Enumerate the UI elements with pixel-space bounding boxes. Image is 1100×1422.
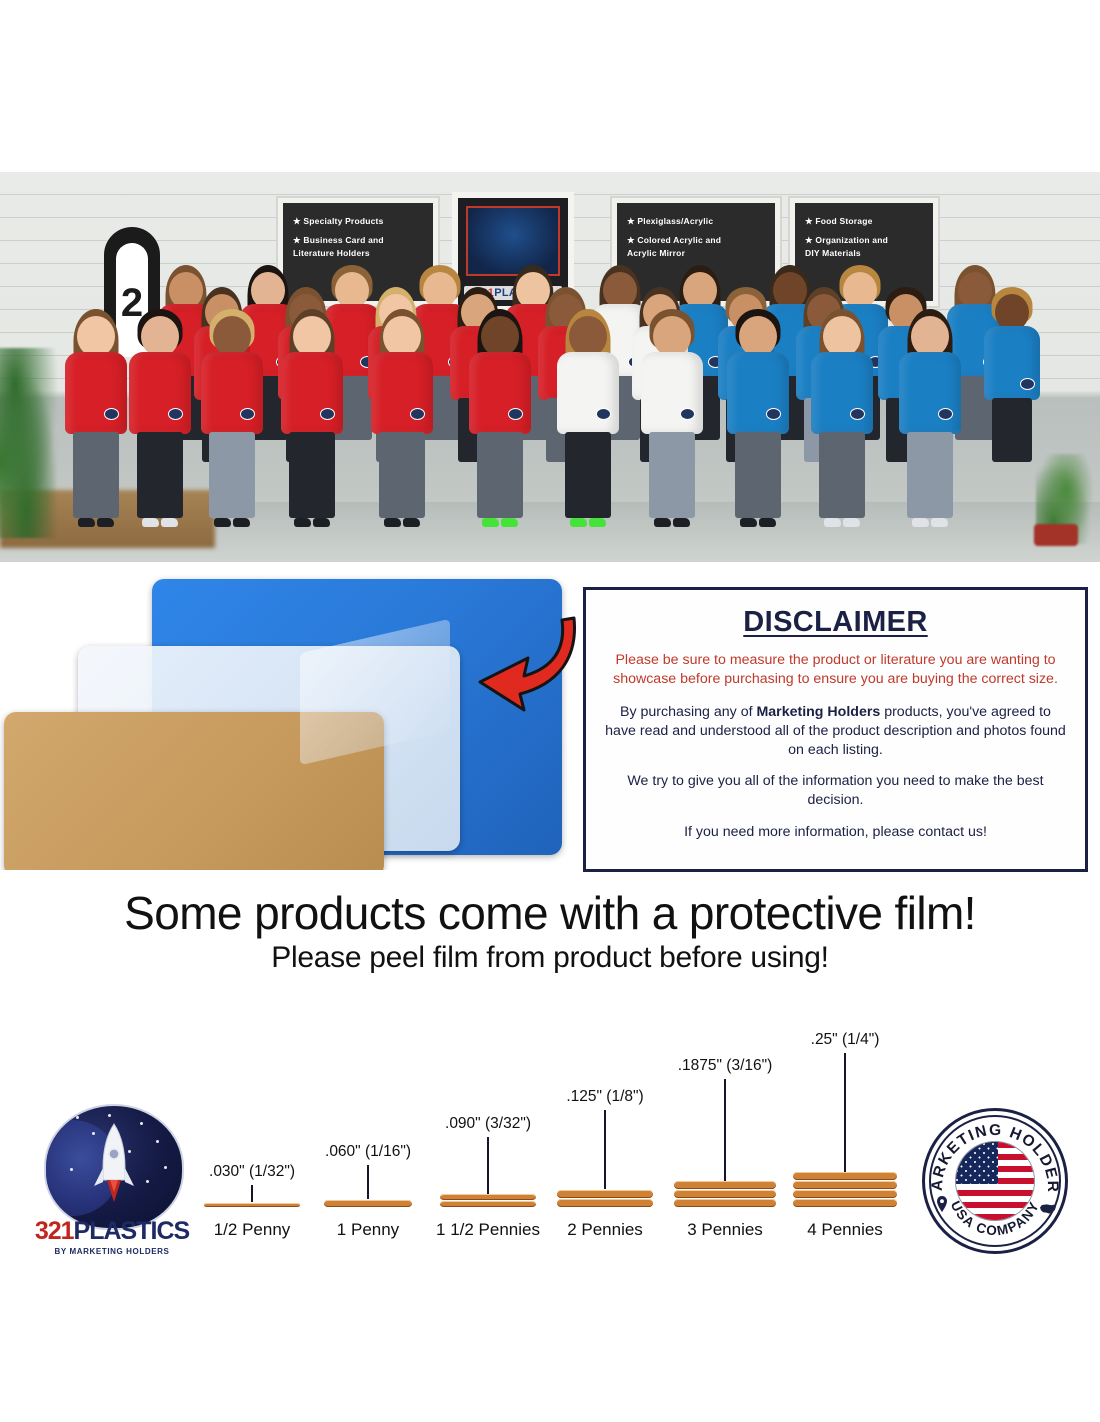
penny-stack [324, 1199, 412, 1207]
face [481, 316, 519, 357]
shoe [843, 518, 860, 527]
rocket-globe-icon [44, 1104, 184, 1230]
shirt-logo [508, 408, 523, 420]
penny-column: .125" (1/8")2 Pennies [557, 1015, 653, 1240]
penny-stack [674, 1180, 776, 1207]
shirt [641, 352, 703, 434]
shirt-logo [938, 408, 953, 420]
logo-word: PLASTICS [74, 1217, 190, 1245]
shoe [912, 518, 929, 527]
penny-coin [674, 1181, 776, 1189]
legs [735, 432, 781, 518]
staff-member [557, 312, 619, 524]
leader-line [724, 1079, 726, 1181]
legs [992, 398, 1032, 462]
penny-count-label: 3 Pennies [687, 1220, 763, 1240]
staff-member [371, 312, 433, 524]
face [383, 316, 421, 357]
shirt-logo [240, 408, 255, 420]
penny-thickness-label: .125" (1/8") [566, 1088, 643, 1106]
penny-column: .090" (3/32")1 1/2 Pennies [440, 1015, 536, 1240]
penny-column: .030" (1/32")1/2 Penny [204, 1015, 300, 1240]
legs [137, 432, 183, 518]
penny-coin [674, 1190, 776, 1198]
penny-count-label: 1 1/2 Pennies [436, 1220, 540, 1240]
face [569, 316, 607, 357]
disclaimer-agreement-text: By purchasing any of Marketing Holders p… [604, 703, 1067, 760]
penny-coin [324, 1200, 412, 1207]
legs [649, 432, 695, 518]
page-subtitle: Please peel film from product before usi… [0, 941, 1100, 975]
logo-number: 321 [35, 1217, 74, 1245]
staff-member [201, 312, 263, 524]
shirt-logo [410, 408, 425, 420]
legs [73, 432, 119, 518]
penny-column: .25" (1/4")4 Pennies [793, 1015, 897, 1240]
leader-line [251, 1185, 253, 1202]
staff-member [727, 312, 789, 524]
shirt-logo [850, 408, 865, 420]
shoe [142, 518, 159, 527]
shoe [294, 518, 311, 527]
logo-marketing-holders: MARKETING HOLDERS USA COMPANY [922, 1108, 1068, 1254]
face [141, 316, 179, 357]
penny-count-label: 4 Pennies [807, 1220, 883, 1240]
shirt-logo [320, 408, 335, 420]
staff-member [129, 312, 191, 524]
legs [907, 432, 953, 518]
face [653, 316, 691, 357]
shoe [589, 518, 606, 527]
penny-stack [440, 1193, 536, 1207]
disclaimer-warning-text: Please be sure to measure the product or… [604, 651, 1067, 689]
staff-member [984, 290, 1040, 494]
shirt [899, 352, 961, 434]
logo-321-wordmark: 321PLASTICS [28, 1219, 196, 1244]
penny-coin [793, 1181, 897, 1189]
shoe [161, 518, 178, 527]
shirt [281, 352, 343, 434]
penny-column: .1875" (3/16")3 Pennies [674, 1015, 776, 1240]
penny-coin [440, 1194, 536, 1200]
team-photo: 2 ★ Specialty Products ★ Business Card a… [0, 172, 1100, 562]
penny-coin [204, 1203, 300, 1207]
penny-count-label: 1 Penny [337, 1220, 399, 1240]
leader-line [367, 1165, 369, 1199]
shoe [78, 518, 95, 527]
shirt-logo [596, 408, 611, 420]
face [293, 316, 331, 357]
staff-group [0, 172, 1100, 562]
penny-count-label: 2 Pennies [567, 1220, 643, 1240]
shirt [65, 352, 127, 434]
penny-coin [793, 1172, 897, 1180]
shoe [931, 518, 948, 527]
logo-321plastics: 321PLASTICS BY MARKETING HOLDERS [28, 1104, 196, 1264]
shoe [759, 518, 776, 527]
shoe [403, 518, 420, 527]
usa-flag-icon [955, 1141, 1035, 1221]
penny-thickness-label: .060" (1/16") [325, 1143, 411, 1161]
legs [477, 432, 523, 518]
legs [379, 432, 425, 518]
shirt-logo [680, 408, 695, 420]
penny-coin [793, 1199, 897, 1207]
legs [819, 432, 865, 518]
storefront-background: 2 ★ Specialty Products ★ Business Card a… [0, 172, 1100, 562]
shirt [201, 352, 263, 434]
shoe [214, 518, 231, 527]
face [823, 316, 861, 357]
legs [209, 432, 255, 518]
staff-member [281, 312, 343, 524]
penny-thickness-label: .030" (1/32") [209, 1163, 295, 1181]
shoe [570, 518, 587, 527]
shoe [673, 518, 690, 527]
staff-member [641, 312, 703, 524]
shirt [811, 352, 873, 434]
red-curved-arrow-icon [466, 606, 586, 726]
disclaimer-contact-text: If you need more information, please con… [604, 823, 1067, 842]
flag-stars [956, 1142, 998, 1184]
penny-count-label: 1/2 Penny [214, 1220, 291, 1240]
shirt [557, 352, 619, 434]
disclaimer-info-text: We try to give you all of the informatio… [604, 772, 1067, 810]
page-title: Some products come with a protective fil… [0, 886, 1100, 940]
location-pin-icon [936, 1196, 948, 1212]
penny-thickness-label: .1875" (3/16") [678, 1057, 773, 1075]
shoe [501, 518, 518, 527]
penny-coin [674, 1199, 776, 1207]
penny-stack [793, 1171, 897, 1207]
disclaimer-box: DISCLAIMER Please be sure to measure the… [583, 587, 1088, 872]
shirt-logo [104, 408, 119, 420]
face [77, 316, 115, 357]
brand-name: Marketing Holders [756, 704, 880, 720]
leader-line [487, 1137, 489, 1194]
penny-column: .060" (1/16")1 Penny [324, 1015, 412, 1240]
staff-member [899, 312, 961, 524]
face [739, 316, 777, 357]
penny-thickness-label: .25" (1/4") [811, 1031, 880, 1049]
penny-coin [440, 1201, 536, 1207]
staff-member [469, 312, 531, 524]
agreement-pre: By purchasing any of [620, 704, 756, 720]
rocket-icon [91, 1120, 137, 1212]
shoe [824, 518, 841, 527]
shirt [984, 326, 1040, 400]
face [213, 316, 251, 357]
shoe [740, 518, 757, 527]
penny-coin [793, 1190, 897, 1198]
shirt-logo [168, 408, 183, 420]
shirt-logo [766, 408, 781, 420]
staff-member [811, 312, 873, 524]
penny-stack [204, 1202, 300, 1207]
leader-line [844, 1053, 846, 1173]
shirt [727, 352, 789, 434]
disclaimer-title: DISCLAIMER [604, 606, 1067, 639]
logo-tagline: BY MARKETING HOLDERS [28, 1247, 196, 1256]
penny-coin [557, 1199, 653, 1207]
face [911, 316, 949, 357]
penny-coin [557, 1190, 653, 1198]
shoe [233, 518, 250, 527]
penny-stack [557, 1189, 653, 1207]
shirt [469, 352, 531, 434]
legs [289, 432, 335, 518]
penny-thickness-label: .090" (3/32") [445, 1115, 531, 1133]
legs [565, 432, 611, 518]
leader-line [604, 1110, 606, 1189]
shirt [371, 352, 433, 434]
shoe [97, 518, 114, 527]
shoe [654, 518, 671, 527]
shoe [313, 518, 330, 527]
shoe [384, 518, 401, 527]
flag-canton [956, 1142, 998, 1184]
shoe [482, 518, 499, 527]
shirt-logo [1020, 378, 1035, 390]
staff-member [65, 312, 127, 524]
shirt [129, 352, 191, 434]
